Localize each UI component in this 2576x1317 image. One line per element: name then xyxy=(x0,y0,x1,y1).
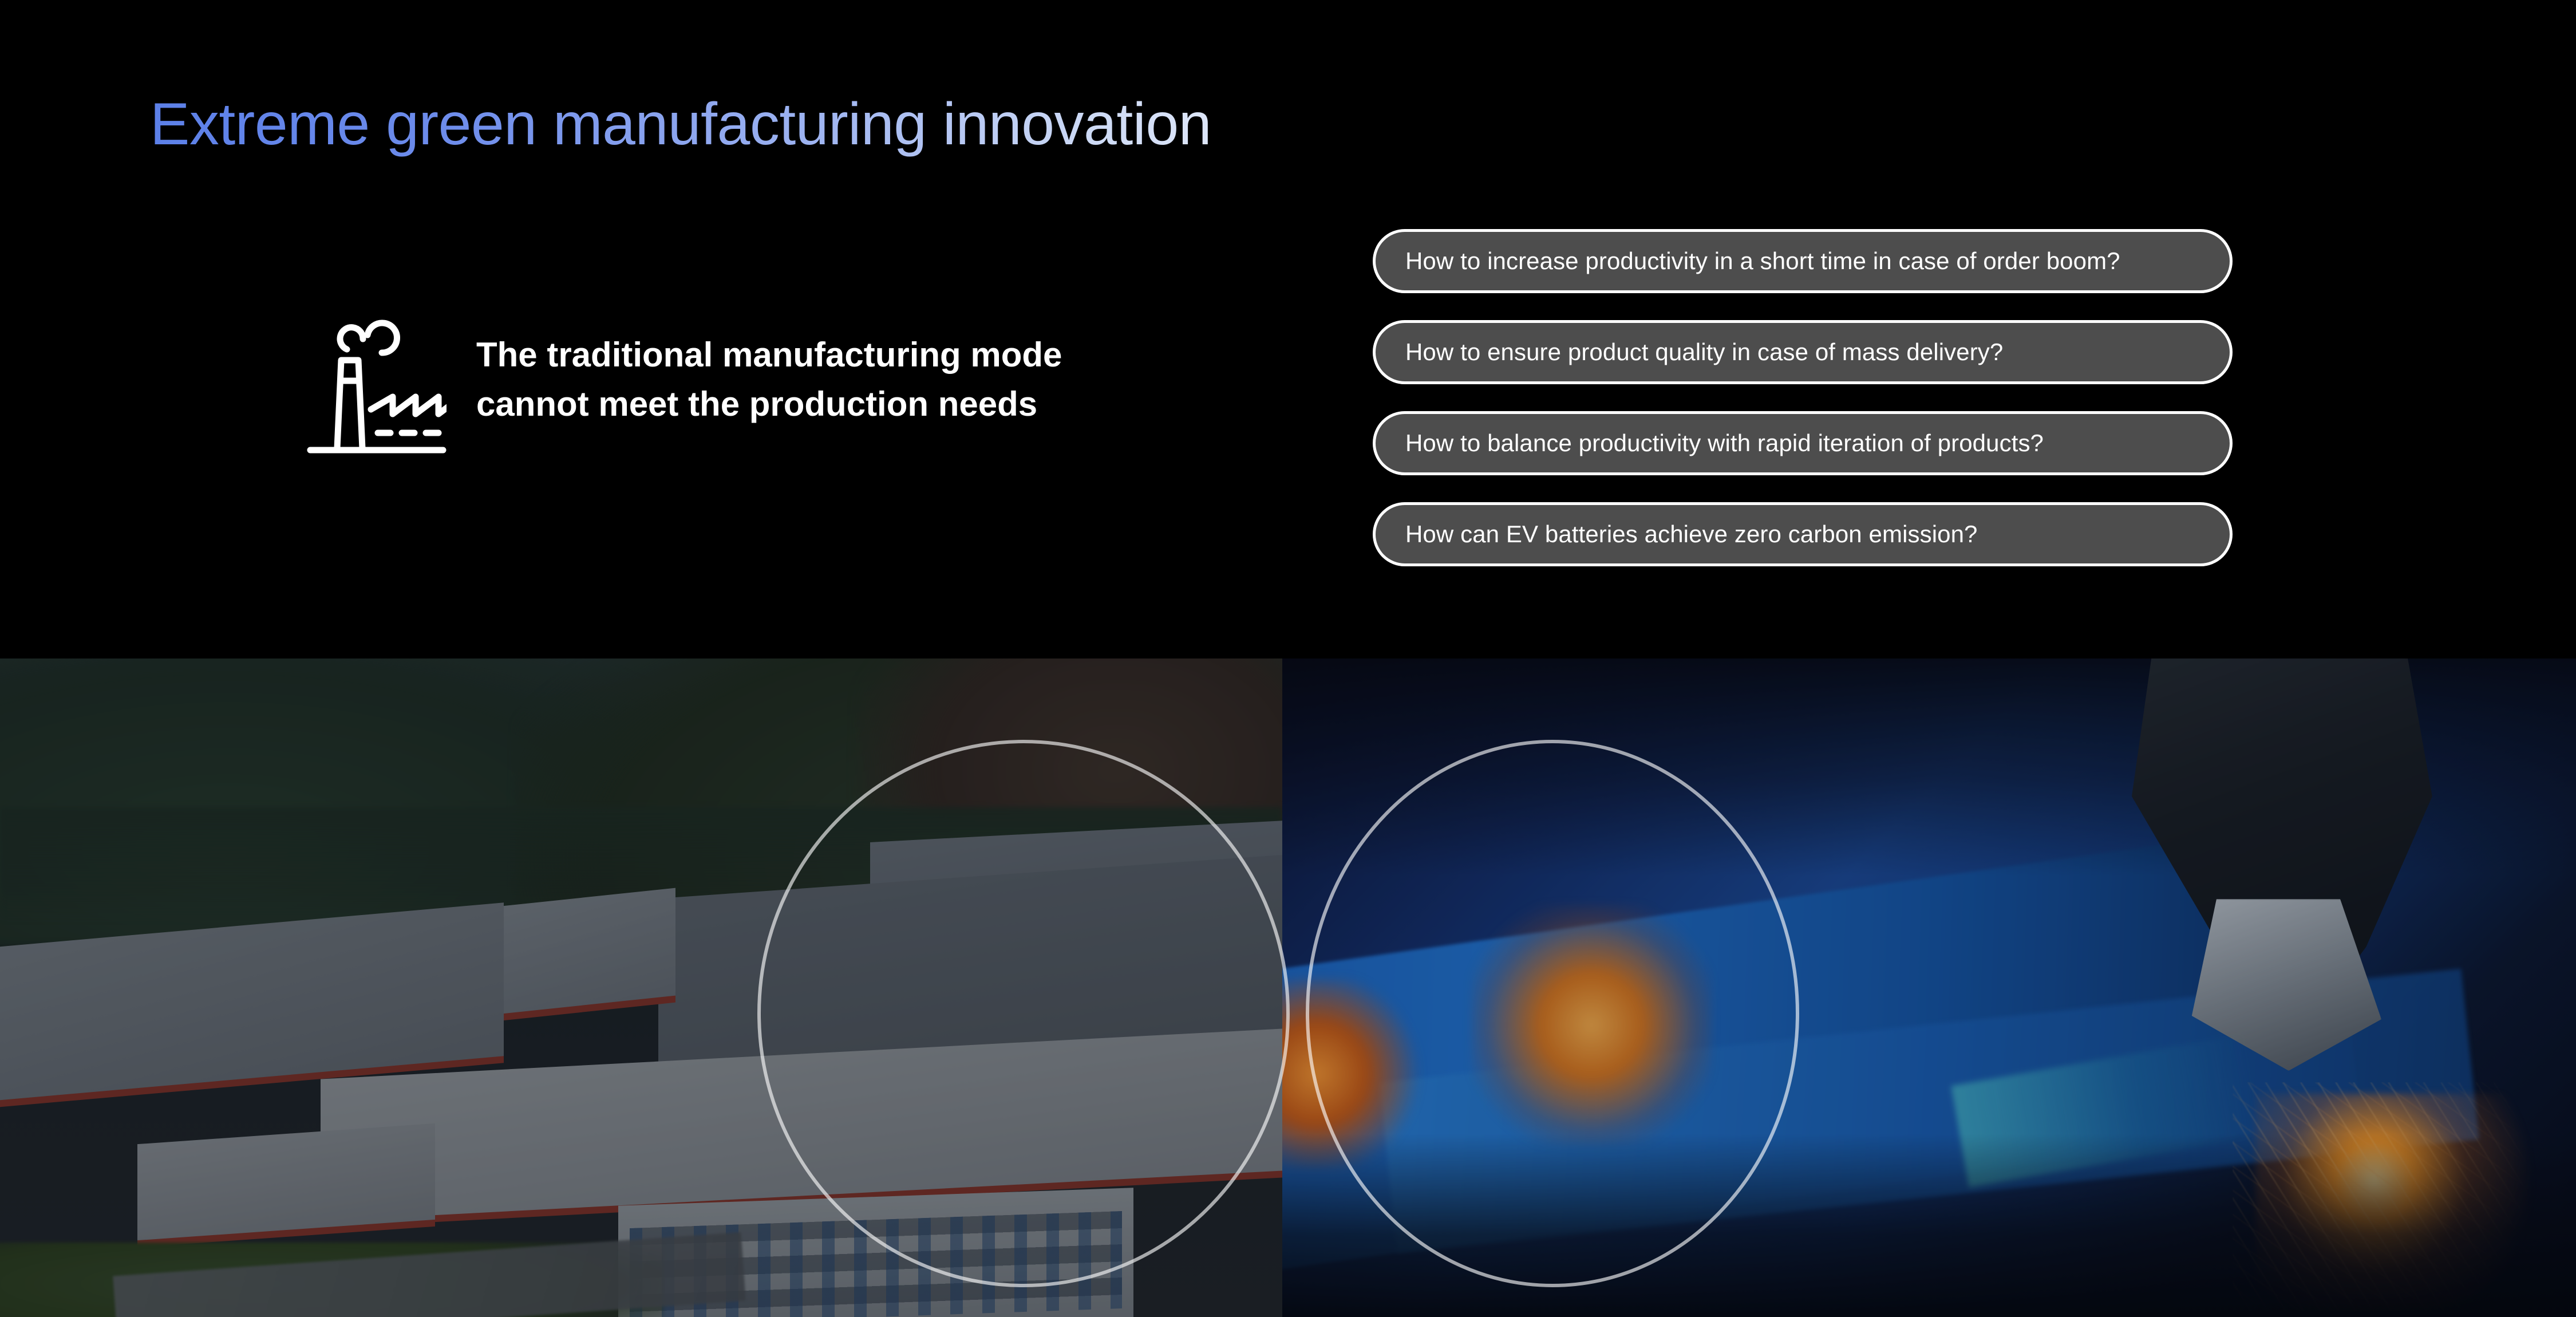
photo-dark-veil xyxy=(0,658,1282,1317)
question-pill-1-label: How to increase productivity in a short … xyxy=(1376,247,2120,275)
statement-text: The traditional manufacturing mode canno… xyxy=(476,330,1062,428)
question-pill-list: How to increase productivity in a short … xyxy=(1373,229,2233,566)
question-pill-1[interactable]: How to increase productivity in a short … xyxy=(1373,229,2233,293)
slide-root: Extreme green manufacturing innovation T… xyxy=(0,0,2576,1317)
factory-icon xyxy=(303,303,447,455)
statement-line-1: The traditional manufacturing mode xyxy=(476,336,1062,374)
question-pill-4-label: How can EV batteries achieve zero carbon… xyxy=(1376,521,1978,548)
aerial-factory-photo xyxy=(0,658,1282,1317)
question-pill-4[interactable]: How can EV batteries achieve zero carbon… xyxy=(1373,502,2233,566)
question-pill-2[interactable]: How to ensure product quality in case of… xyxy=(1373,320,2233,384)
photo-band: Supply chain Carbon reductionmanagement … xyxy=(0,658,2576,1317)
statement-line-2: cannot meet the production needs xyxy=(476,380,1062,428)
traditional-mode-statement: The traditional manufacturing mode canno… xyxy=(303,303,1062,455)
weld-dark-veil xyxy=(1282,658,2576,1317)
question-pill-2-label: How to ensure product quality in case of… xyxy=(1376,338,2003,366)
header-section: Extreme green manufacturing innovation T… xyxy=(0,0,2576,658)
question-pill-3-label: How to balance productivity with rapid i… xyxy=(1376,429,2044,457)
page-title: Extreme green manufacturing innovation xyxy=(150,92,1211,157)
question-pill-3[interactable]: How to balance productivity with rapid i… xyxy=(1373,411,2233,475)
laser-welding-photo xyxy=(1282,658,2576,1317)
